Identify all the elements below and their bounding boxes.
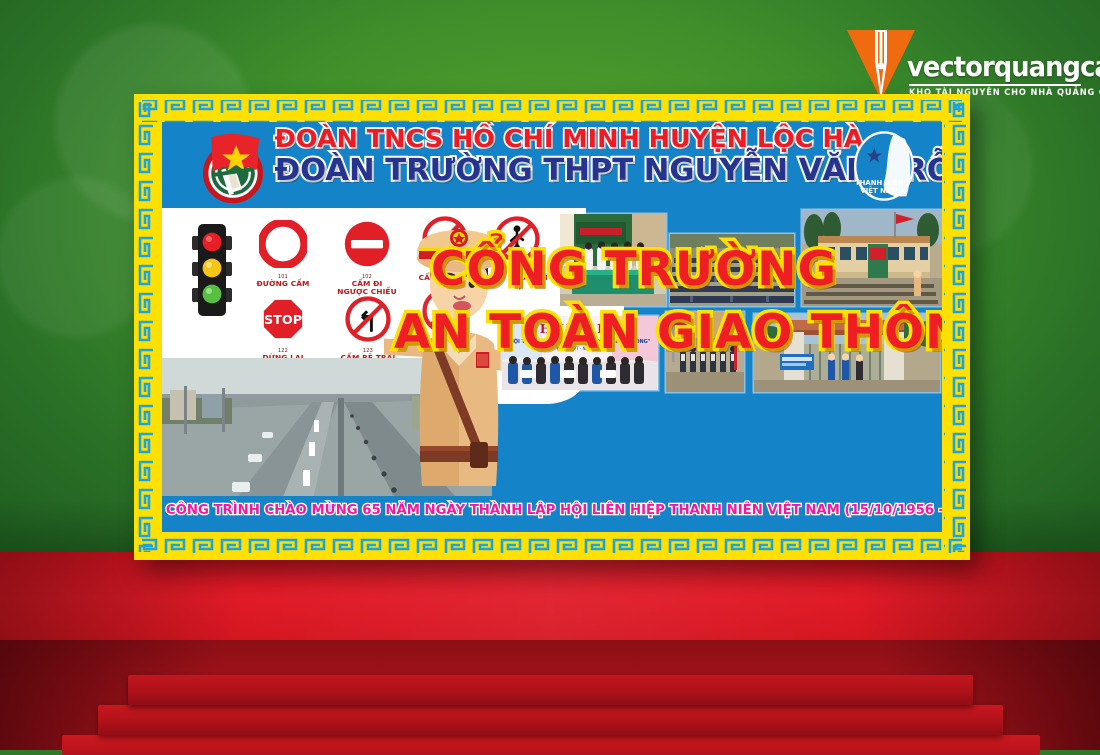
svg-text:STOP: STOP <box>264 313 302 328</box>
photo-school-building <box>802 210 942 306</box>
photo-school-gate <box>754 314 940 392</box>
photo-flag-ceremony <box>666 312 744 392</box>
sign-duong-cam-icon <box>259 220 307 268</box>
hoi-lien-hiep-thanh-nien-viet-nam-logo: THANH NIÊN VIỆT NAM <box>844 126 924 206</box>
traffic-light-icon <box>190 222 234 318</box>
sign-stop-icon: STOP <box>260 296 306 342</box>
header-title-line2: ĐOÀN TRƯỜNG THPT NGUYỄN VĂN TRỖI <box>274 155 839 187</box>
banner-inner-panel: ĐOÀN TNCS HỒ CHÍ MINH HUYỆN LỘC HÀ ĐOÀN … <box>162 122 942 532</box>
svg-text:VIỆT NAM: VIỆT NAM <box>860 186 898 195</box>
photo-ceremony-stage <box>560 214 666 306</box>
stage-step-top <box>128 675 973 705</box>
photo-chung-ket-group: CHUNG KẾT HỘI THI "THANH NIÊN VỚI VĂN HÓ… <box>502 316 658 390</box>
photo-parked-bicycles <box>670 234 794 306</box>
banner-body: 101 ĐƯỜNG CẤM 102 CẤM ĐI NGƯỢC CHIỀU <box>162 208 942 496</box>
sign-duong-cam: 101 ĐƯỜNG CẤM <box>247 220 319 288</box>
header-titles: ĐOÀN TNCS HỒ CHÍ MINH HUYỆN LỘC HÀ ĐOÀN … <box>280 126 834 187</box>
scene: vectorquangcao.com KHO TÀI NGUYÊN CHO NH… <box>0 0 1100 750</box>
svg-text:HỘI THI "THANH NIÊN VỚI VĂN HÓ: HỘI THI "THANH NIÊN VỚI VĂN HÓA GIAO THÔ… <box>510 337 651 345</box>
banner-board: ĐOÀN TNCS HỒ CHÍ MINH HUYỆN LỘC HÀ ĐOÀN … <box>134 94 970 560</box>
banner-header: ĐOÀN TNCS HỒ CHÍ MINH HUYỆN LỘC HÀ ĐOÀN … <box>162 122 942 208</box>
stage-step-bottom <box>62 735 1040 755</box>
svg-text:KHỐI THPT - NĂM 2019: KHỐI THPT - NĂM 2019 <box>557 346 604 351</box>
sign-dung-lai: STOP 122 DỪNG LẠI <box>247 296 319 362</box>
header-title-line1: ĐOÀN TNCS HỒ CHÍ MINH HUYỆN LỘC HÀ <box>274 126 839 153</box>
bottom-banner-text: CÔNG TRÌNH CHÀO MỪNG 65 NĂM NGÀY THÀNH L… <box>166 503 938 518</box>
banner-bottom-strip: CÔNG TRÌNH CHÀO MỪNG 65 NĂM NGÀY THÀNH L… <box>162 496 942 532</box>
sign-label: ĐƯỜNG CẤM <box>247 280 319 288</box>
stage-step-middle <box>98 705 1003 735</box>
watermark-divider <box>909 84 1081 86</box>
svg-text:CHUNG KẾT: CHUNG KẾT <box>528 319 631 336</box>
svg-text:THANH NIÊN: THANH NIÊN <box>855 178 904 187</box>
doan-tncs-ho-chi-minh-emblem <box>194 128 272 206</box>
watermark-site: vectorquangcao.com <box>907 50 1100 83</box>
